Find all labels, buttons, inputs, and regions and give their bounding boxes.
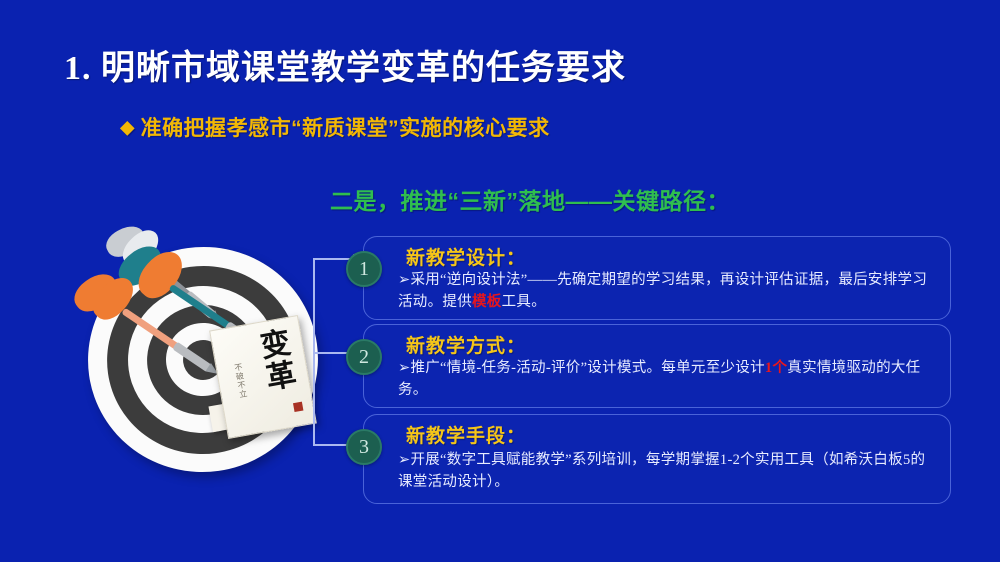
card-number-badge: 1 xyxy=(346,251,382,287)
card-body: ➢采用“逆向设计法”——先确定期望的学习结果，再设计评估证据，最后安排学习活动。… xyxy=(398,269,936,314)
content-card: 1 新教学设计： ➢采用“逆向设计法”——先确定期望的学习结果，再设计评估证据，… xyxy=(363,236,951,320)
card-heading: 新教学方式： xyxy=(406,331,526,358)
card-number-badge: 3 xyxy=(346,429,382,465)
subtitle-text: 准确把握孝感市“新质课堂”实施的核心要求 xyxy=(141,117,550,140)
card-heading: 新教学手段： xyxy=(406,421,526,448)
diamond-bullet-icon: ◆ xyxy=(120,117,134,137)
card-body-highlight: 1-2个 xyxy=(720,452,755,468)
page-title: 1. 明晰市域课堂教学变革的任务要求 xyxy=(0,40,1000,89)
dartboard-illustration: 变革 不破不立 xyxy=(78,222,328,482)
card-body: ➢推广“情境-任务-活动-评价”设计模式。每单元至少设计1个真实情境驱动的大任务… xyxy=(398,357,936,402)
bracket-arm-1 xyxy=(313,258,353,260)
calligraphy-main-text: 变革 xyxy=(254,326,296,394)
calligraphy-card: 变革 不破不立 xyxy=(209,315,317,439)
card-body-suffix: 工具。 xyxy=(502,294,546,310)
card-body-highlight: 模板 xyxy=(472,294,502,310)
card-number-badge: 2 xyxy=(346,339,382,375)
card-heading: 新教学设计： xyxy=(406,243,526,270)
card-body-prefix: ➢开展“数字工具赋能教学”系列培训，每学期掌握 xyxy=(398,452,720,468)
seal-icon xyxy=(293,402,303,412)
content-card: 2 新教学方式： ➢推广“情境-任务-活动-评价”设计模式。每单元至少设计1个真… xyxy=(363,324,951,408)
card-body: ➢开展“数字工具赋能教学”系列培训，每学期掌握1-2个实用工具（如希沃白板5的课… xyxy=(398,449,936,494)
calligraphy-small-text: 不破不立 xyxy=(232,362,249,399)
content-card: 3 新教学手段： ➢开展“数字工具赋能教学”系列培训，每学期掌握1-2个实用工具… xyxy=(363,414,951,504)
card-body-highlight: 1个 xyxy=(765,360,787,376)
card-body-prefix: ➢推广“情境-任务-活动-评价”设计模式。每单元至少设计 xyxy=(398,360,765,376)
section-heading: 二是，推进“三新”落地——关键路径： xyxy=(0,182,1000,216)
subtitle: ◆准确把握孝感市“新质课堂”实施的核心要求 xyxy=(0,112,1000,142)
slide-canvas: 1. 明晰市域课堂教学变革的任务要求 ◆准确把握孝感市“新质课堂”实施的核心要求… xyxy=(0,0,1000,562)
